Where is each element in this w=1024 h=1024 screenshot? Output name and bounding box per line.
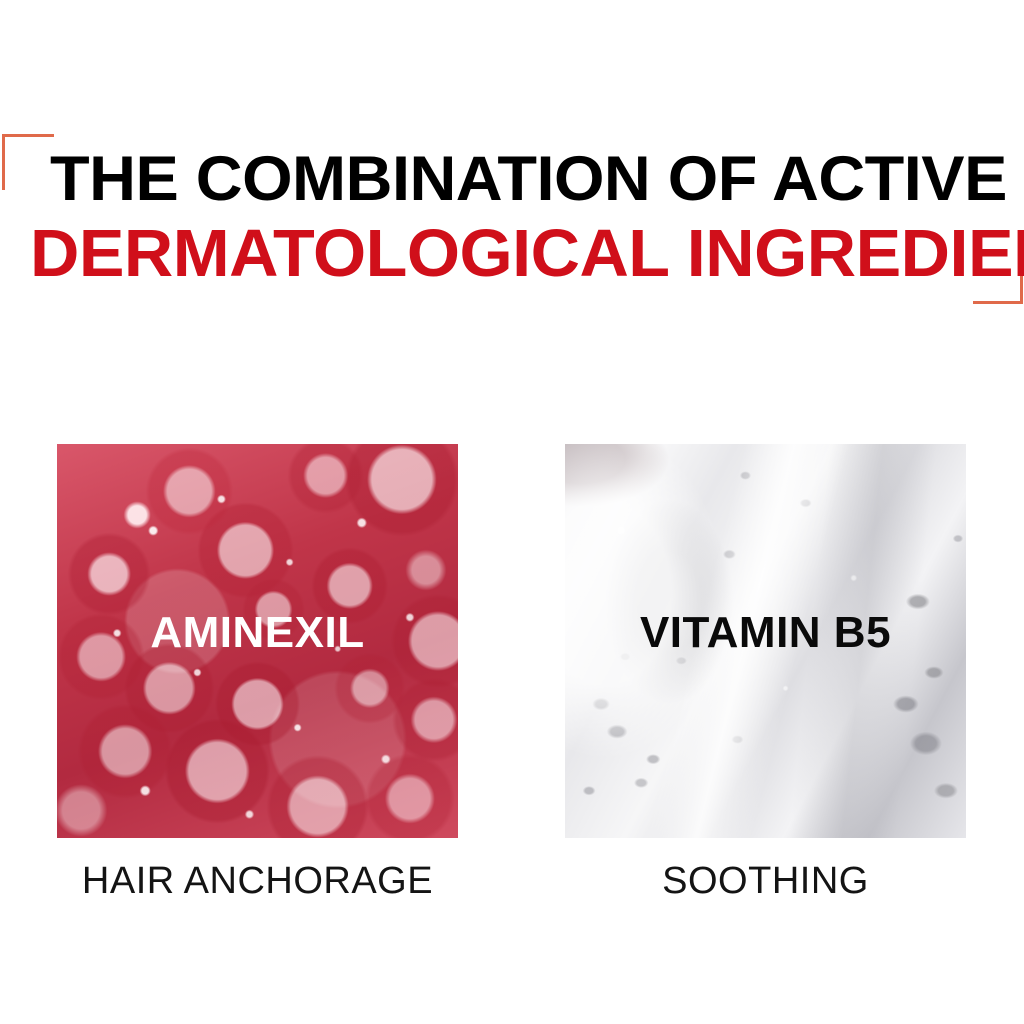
headline-block: THE COMBINATION OF ACTIVE DERMATOLOGICAL… [0, 148, 1024, 287]
ingredient-panel-vitamin-b5: VITAMIN B5 SOOTHING [565, 444, 966, 900]
clear-gel-texture-swatch: VITAMIN B5 [565, 444, 966, 838]
ingredient-panels: AMINEXIL HAIR ANCHORAGE VITAMIN B5 SOOTH… [0, 444, 1024, 904]
ingredient-caption-aminexil: HAIR ANCHORAGE [57, 862, 458, 900]
ingredient-label-vitamin-b5: VITAMIN B5 [640, 611, 891, 655]
ingredient-panel-aminexil: AMINEXIL HAIR ANCHORAGE [57, 444, 458, 900]
ingredient-caption-vitamin-b5: SOOTHING [565, 862, 966, 900]
red-bubble-texture-swatch: AMINEXIL [57, 444, 458, 838]
headline-line-accent: DERMATOLOGICAL INGREDIENTS [30, 220, 1024, 287]
headline-line-primary: THE COMBINATION OF ACTIVE [50, 148, 1024, 211]
promo-graphic-page: THE COMBINATION OF ACTIVE DERMATOLOGICAL… [0, 0, 1024, 1024]
ingredient-label-aminexil: AMINEXIL [150, 611, 364, 655]
